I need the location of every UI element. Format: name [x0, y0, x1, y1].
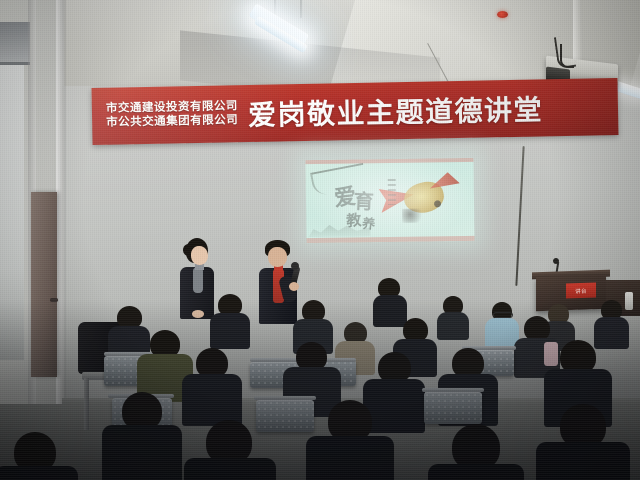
lectern-sign: 讲台: [566, 282, 596, 298]
banner-org-line-2: 市公共交通集团有限公司: [106, 114, 238, 130]
projector-cable: [560, 44, 574, 68]
floral-scarf: [544, 342, 558, 366]
banner-main-title: 爱岗敬业主题道德讲堂: [238, 86, 619, 133]
banner-org-block: 市交通建设投资有限公司 市公共交通集团有限公司: [92, 100, 238, 130]
audience-shoulders: [428, 464, 524, 480]
window-shade: [0, 22, 30, 65]
light-hanger-rod: [300, 0, 302, 18]
presenter-woman-hands: [192, 310, 204, 318]
audience-shoulders: [306, 436, 394, 480]
audience-shoulders: [536, 442, 630, 480]
projection-screen: 爱 育 教 养: [305, 158, 474, 243]
lecture-hall-photo: 市交通建设投资有限公司 市公共交通集团有限公司 爱岗敬业主题道德讲堂 爱 育 教…: [0, 0, 640, 480]
lectern-microphone-icon: [553, 258, 559, 264]
audience-shoulders: [373, 295, 407, 327]
presenter-woman: [178, 238, 218, 320]
auditorium-seat[interactable]: [256, 400, 314, 432]
audience-shoulders: [594, 317, 629, 349]
presenter-woman-turtleneck: [193, 267, 203, 293]
chair-post: [84, 378, 89, 430]
presenter-man-hand: [289, 282, 299, 291]
presenter-man-face: [268, 247, 287, 267]
audience-shoulders: [184, 458, 276, 480]
audience-shoulders: [0, 466, 78, 480]
door-handle-icon[interactable]: [50, 298, 58, 302]
ceiling-indicator-light-icon: [497, 11, 508, 18]
window-pane: [0, 60, 24, 360]
projector-mount-pole: [573, 0, 582, 62]
presenter-woman-face: [191, 246, 208, 265]
eyeglasses-icon: [493, 312, 513, 318]
audience-shoulders: [210, 313, 250, 349]
auditorium-seat[interactable]: [424, 392, 482, 424]
room-door[interactable]: [31, 192, 57, 377]
audience-shoulders: [182, 374, 242, 426]
banner-org-line-1: 市交通建设投资有限公司: [106, 100, 238, 116]
lectern-sign-label: 讲台: [575, 286, 587, 294]
microphone-head-icon: [291, 262, 299, 270]
projection-glare: [305, 158, 474, 243]
seat-frame: [422, 388, 484, 392]
audience-shoulders: [363, 379, 425, 433]
seat-frame: [254, 396, 316, 400]
water-bottle: [625, 292, 633, 310]
event-banner: 市交通建设投资有限公司 市公共交通集团有限公司 爱岗敬业主题道德讲堂: [92, 78, 619, 145]
audience-shoulders: [437, 312, 469, 340]
audience-shoulders: [102, 425, 182, 480]
presenter-man: [259, 240, 303, 326]
